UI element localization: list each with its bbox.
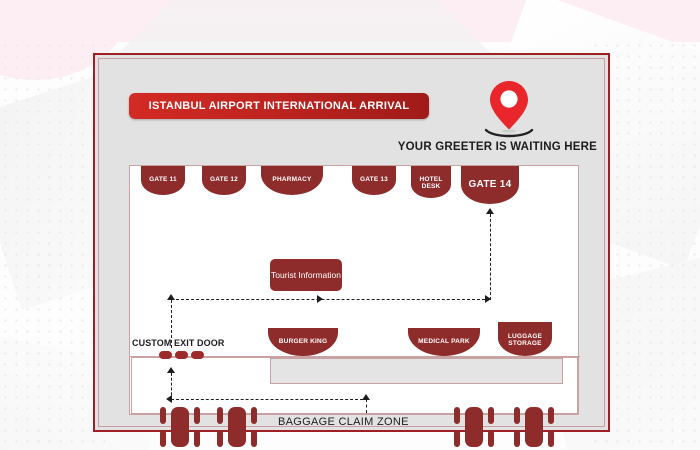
carousel-bar — [454, 430, 460, 447]
map-shop-hotel-desk[interactable]: HOTEL DESK — [411, 166, 451, 198]
carousel-bar — [548, 407, 554, 424]
carousel-bar — [454, 407, 460, 424]
terminal-map: GATE 11 GATE 12 PHARMACY GATE 13 HOTEL D… — [129, 165, 579, 415]
carousel-belt — [228, 407, 246, 447]
airport-map-poster: ISTANBUL AIRPORT INTERNATIONAL ARRIVAL Y… — [93, 53, 610, 432]
map-shop-gate-12[interactable]: GATE 12 — [202, 166, 246, 195]
route-arrow-left-lower — [166, 395, 172, 403]
carousel-bar — [548, 430, 554, 447]
greeter-notice: YOUR GREETER IS WAITING HERE — [385, 141, 597, 153]
route-segment-horizontal-upper — [171, 299, 490, 300]
carousel-bar — [217, 430, 223, 447]
page-title: ISTANBUL AIRPORT INTERNATIONAL ARRIVAL — [129, 93, 429, 119]
carousel-bar — [194, 407, 200, 424]
route-arrow-up-gate14 — [486, 208, 494, 214]
map-shop-label: PHARMACY — [272, 177, 311, 184]
map-tourist-information[interactable]: Tourist Information — [270, 259, 342, 291]
carousel-bar — [194, 430, 200, 447]
carousel-bar — [251, 407, 257, 424]
carousel-bar — [488, 430, 494, 447]
route-segment-vertical-gate14 — [490, 214, 491, 300]
exit-door-segment — [191, 351, 204, 359]
carousel-bar — [514, 430, 520, 447]
carousel-bar — [217, 407, 223, 424]
map-shop-label: HOTEL DESK — [415, 177, 447, 191]
map-shop-label: GATE 12 — [210, 177, 238, 184]
exit-door-segment — [175, 351, 188, 359]
map-shop-luggage-storage[interactable]: LUGGAGE STORAGE — [498, 322, 552, 356]
map-shop-label: LUGGAGE STORAGE — [502, 334, 548, 348]
tourist-information-label: Tourist Information — [271, 270, 341, 281]
map-shop-label: GATE 14 — [468, 180, 511, 191]
exit-door-segment — [159, 351, 172, 359]
carousel-bar — [160, 430, 166, 447]
route-arrow-right-mid — [317, 295, 323, 303]
route-segment-horizontal-lower — [171, 399, 368, 400]
page-title-text: ISTANBUL AIRPORT INTERNATIONAL ARRIVAL — [149, 100, 410, 112]
custom-exit-door-label: CUSTOM EXIT DOOR — [132, 338, 252, 348]
map-shop-label: BURGER KING — [279, 339, 327, 346]
map-shop-gate-14[interactable]: GATE 14 — [461, 166, 519, 204]
baggage-carousel[interactable] — [512, 404, 556, 450]
baggage-carousel[interactable] — [215, 404, 259, 450]
carousel-belt — [171, 407, 189, 447]
map-shop-medical-park[interactable]: MEDICAL PARK — [408, 328, 480, 356]
map-shop-gate-11[interactable]: GATE 11 — [141, 166, 185, 195]
map-shop-pharmacy[interactable]: PHARMACY — [261, 166, 323, 195]
carousel-belt — [465, 407, 483, 447]
map-shop-label: GATE 13 — [360, 177, 388, 184]
map-shop-burger-king[interactable]: BURGER KING — [268, 328, 338, 356]
baggage-carousel[interactable] — [158, 404, 202, 450]
map-shop-label: GATE 11 — [149, 177, 177, 184]
route-segment-baggage-stub — [366, 399, 367, 413]
carousel-bar — [160, 407, 166, 424]
baggage-claim-zone-label: BAGGAGE CLAIM ZONE — [278, 416, 409, 428]
carousel-bar — [514, 407, 520, 424]
map-shop-label: MEDICAL PARK — [418, 339, 470, 346]
map-pin-icon — [473, 76, 545, 142]
route-arrow-up-baggage — [362, 394, 370, 400]
baggage-carousel[interactable] — [452, 404, 496, 450]
shop-strip-block — [270, 358, 563, 384]
carousel-belt — [525, 407, 543, 447]
carousel-bar — [251, 430, 257, 447]
carousel-bar — [488, 407, 494, 424]
map-shop-gate-13[interactable]: GATE 13 — [352, 166, 396, 195]
